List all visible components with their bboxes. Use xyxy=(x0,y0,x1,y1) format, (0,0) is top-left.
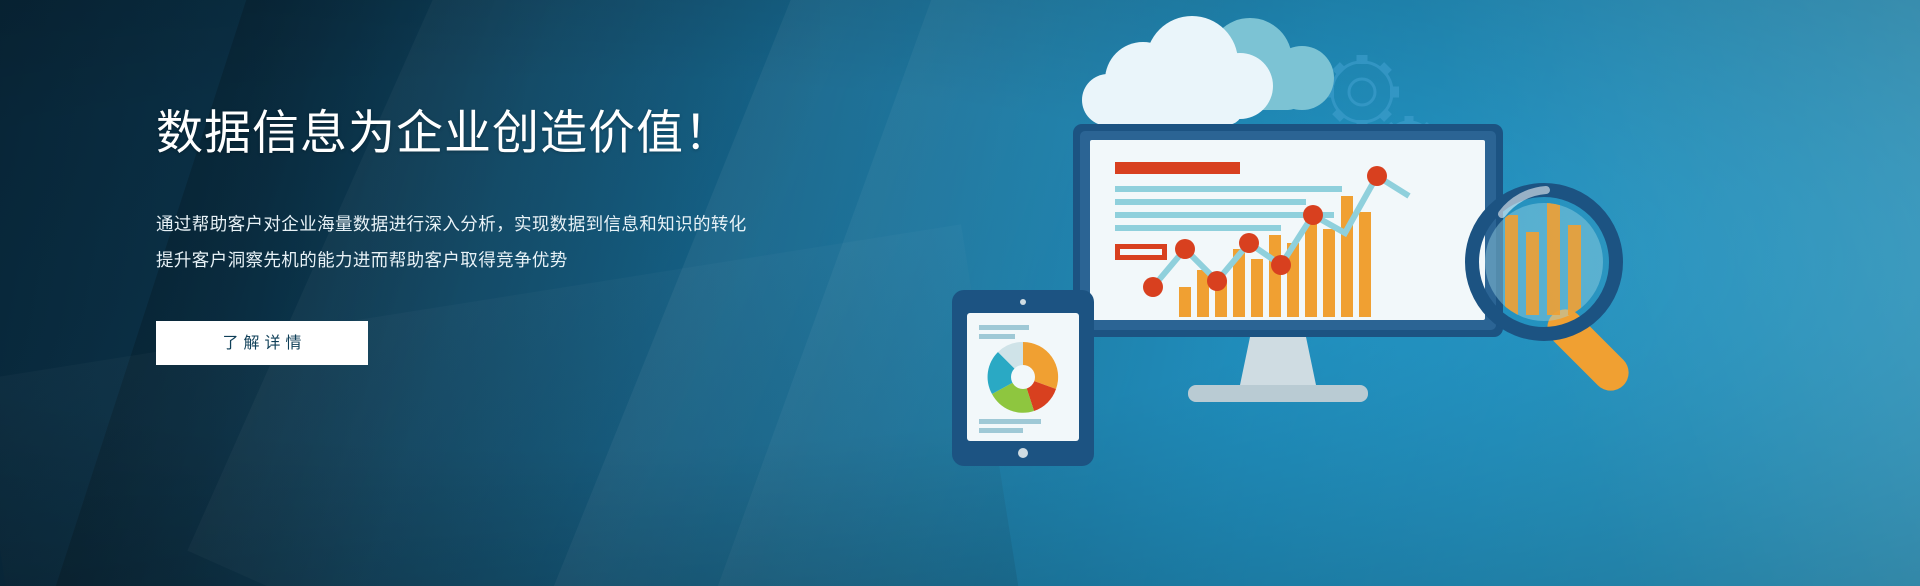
screen-button xyxy=(1115,244,1167,260)
desktop-monitor xyxy=(1073,124,1503,402)
page-title: 数据信息为企业创造价值！ xyxy=(156,104,876,163)
monitor-stand-neck xyxy=(1240,337,1316,385)
data-analytics-illustration xyxy=(930,0,1920,586)
learn-more-button[interactable]: 了解详情 xyxy=(156,321,368,365)
screen-heading-bar xyxy=(1115,162,1240,174)
hero-description-line-1: 通过帮助客户对企业海量数据进行深入分析，实现数据到信息和知识的转化 xyxy=(156,207,876,243)
hero-description: 通过帮助客户对企业海量数据进行深入分析，实现数据到信息和知识的转化 提升客户洞察… xyxy=(156,207,876,279)
hero-content: 数据信息为企业创造价值！ 通过帮助客户对企业海量数据进行深入分析，实现数据到信息… xyxy=(156,104,876,365)
monitor-stand-base xyxy=(1188,385,1368,402)
tablet-device xyxy=(952,290,1094,466)
gear-outline-large xyxy=(1325,55,1399,129)
hero-description-line-2: 提升客户洞察先机的能力进而帮助客户取得竞争优势 xyxy=(156,243,876,279)
hero-banner: 数据信息为企业创造价值！ 通过帮助客户对企业海量数据进行深入分析，实现数据到信息… xyxy=(0,0,1920,586)
magnifier-lens xyxy=(1485,203,1603,321)
tablet-home-button xyxy=(1018,448,1028,458)
tablet-camera xyxy=(1020,299,1026,305)
